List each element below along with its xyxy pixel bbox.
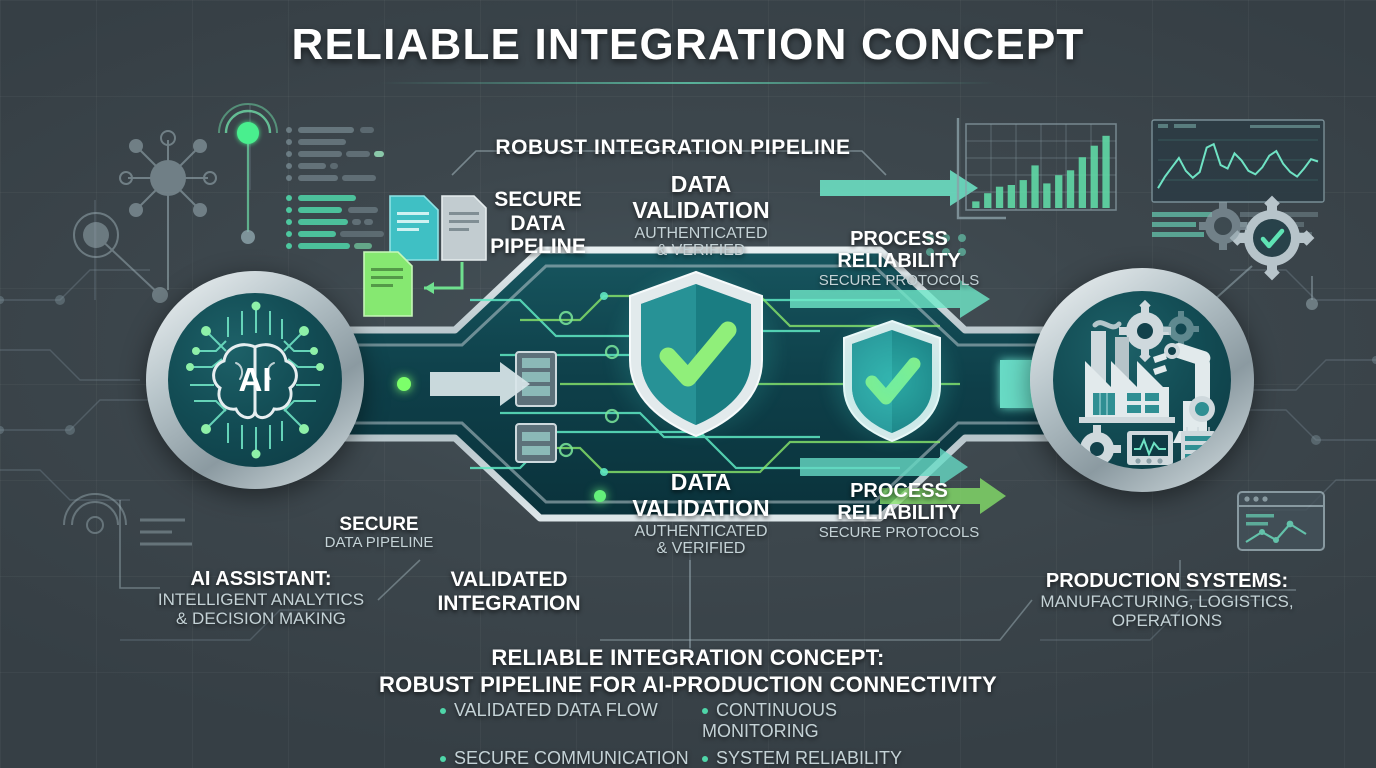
title-underline — [378, 82, 998, 84]
active-node-indicator — [219, 104, 277, 244]
ai-node-label: AI — [239, 361, 272, 398]
caption-production-systems: PRODUCTION SYSTEMS: MANUFACTURING, LOGIS… — [1032, 570, 1302, 630]
bullet-item: SECURE COMMUNICATION — [440, 748, 702, 768]
chip-block-icon — [516, 352, 556, 462]
summary-bullets: VALIDATED DATA FLOW CONTINUOUS MONITORIN… — [440, 700, 950, 768]
label-process-reliability-top: PROCESS RELIABILITY SECURE PROTOCOLS — [800, 228, 998, 290]
label-data-validation-bottom: DATA VALIDATION AUTHENTICATED & VERIFIED — [596, 470, 806, 558]
bullet-item: VALIDATED DATA FLOW — [440, 700, 702, 742]
pipeline-banner: ROBUST INTEGRATION PIPELINE — [448, 136, 898, 160]
factory-robot-icon — [1053, 291, 1231, 469]
browser-line-chart-icon — [1238, 492, 1324, 550]
bar-chart-panel — [958, 118, 1116, 218]
label-secure-pipeline-bottom: SECURE DATA PIPELINE — [306, 514, 452, 552]
brain-circuit-icon: AI — [168, 293, 342, 467]
label-validated-integration: VALIDATED INTEGRATION — [414, 568, 604, 615]
page-title: RELIABLE INTEGRATION CONCEPT — [0, 20, 1376, 70]
production-node-core — [1053, 291, 1231, 469]
caption-ai-assistant: AI ASSISTANT: INTELLIGENT ANALYTICS & DE… — [148, 568, 374, 628]
summary-block: RELIABLE INTEGRATION CONCEPT: ROBUST PIP… — [288, 646, 1088, 697]
bullet-dot-icon — [440, 708, 446, 714]
data-validation-shield[interactable] — [622, 268, 770, 440]
bullet-item: SYSTEM RELIABILITY — [702, 748, 950, 768]
bullet-dot-icon — [702, 756, 708, 762]
ai-node-core: AI — [168, 293, 342, 467]
label-secure-pipeline-top: SECURE DATA PIPELINE — [470, 188, 606, 259]
code-lines-icon — [286, 124, 396, 248]
bullet-item: CONTINUOUS MONITORING — [702, 700, 950, 742]
shield-glow-2 — [824, 304, 960, 458]
bullet-dot-icon — [440, 756, 446, 762]
bullet-dot-icon — [702, 708, 708, 714]
network-hub-icon — [120, 131, 216, 290]
network-node-small — [74, 213, 168, 303]
infographic-canvas: RELIABLE INTEGRATION CONCEPT ROBUST INTE… — [0, 0, 1376, 768]
radar-icon — [64, 494, 192, 544]
process-reliability-shield[interactable] — [838, 318, 946, 444]
monitor-icon — [1127, 431, 1173, 465]
label-data-validation-top: DATA VALIDATION AUTHENTICATED & VERIFIED — [596, 172, 806, 260]
label-process-reliability-bottom: PROCESS RELIABILITY SECURE PROTOCOLS — [800, 480, 998, 542]
